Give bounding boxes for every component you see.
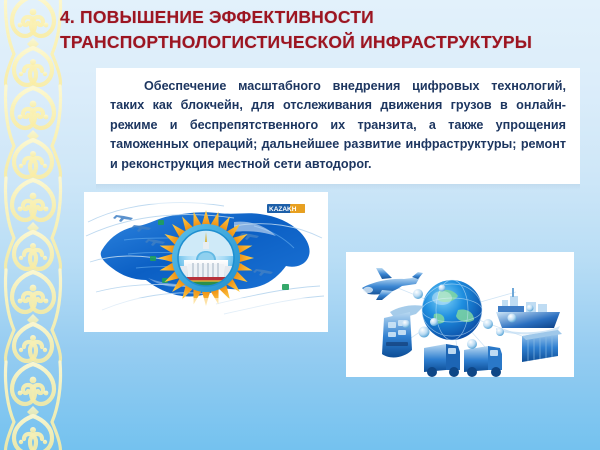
slide-title: 4. ПОВЫШЕНИЕ ЭФФЕКТИВНОСТИ ТРАНСПОРТНОЛО… <box>60 5 590 55</box>
body-paragraph: Обеспечение масштабного внедрения цифров… <box>110 77 566 174</box>
title-line-1: 4. ПОВЫШЕНИЕ ЭФФЕКТИВНОСТИ <box>60 5 590 30</box>
kazakhstan-map-emblem-image: KAZAKH <box>84 192 328 332</box>
global-logistics-image <box>346 252 574 377</box>
body-text-panel: Обеспечение масштабного внедрения цифров… <box>96 68 580 184</box>
title-line-2: ТРАНСПОРТНОЛОГИСТИЧЕСКОЙ ИНФРАСТРУКТУРЫ <box>60 30 590 55</box>
kazakh-ornament-border <box>0 0 66 450</box>
globe-icon <box>422 280 482 340</box>
svg-text:KAZAKH: KAZAKH <box>269 206 297 213</box>
panel-shadow <box>96 184 580 190</box>
presentation-slide: 4. ПОВЫШЕНИЕ ЭФФЕКТИВНОСТИ ТРАНСПОРТНОЛО… <box>0 0 600 450</box>
sun-rays-emblem <box>158 210 254 306</box>
kazakh-watermark: KAZAKH <box>267 204 305 213</box>
